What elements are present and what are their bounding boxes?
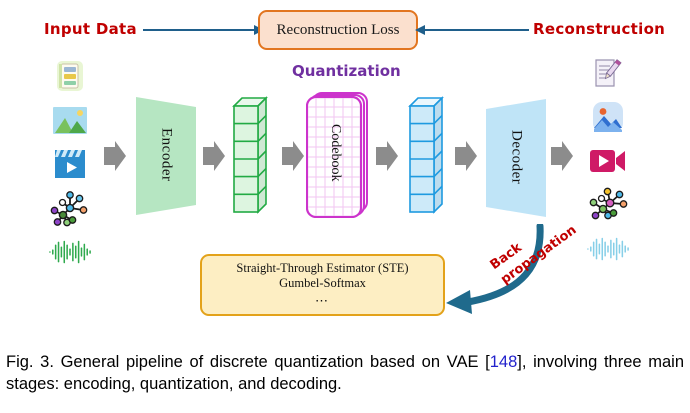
graph-icon — [48, 190, 92, 226]
decoder-block: Decoder — [484, 93, 548, 221]
encoder-block: Encoder — [134, 91, 198, 219]
reconstruction-loss-box: Reconstruction Loss — [258, 10, 418, 50]
audio-waveform-icon — [586, 231, 630, 267]
figure-canvas: Input Data Reconstruction Loss Reconstru… — [0, 0, 690, 345]
flow-arrow-1 — [104, 141, 126, 171]
ste-line-1: Straight-Through Estimator (STE) — [236, 261, 408, 277]
audio-waveform-icon — [48, 234, 92, 270]
flow-arrow-3 — [282, 141, 304, 171]
video-camera-icon — [586, 143, 630, 179]
input-modality-icons — [40, 58, 100, 278]
flow-arrow-4 — [376, 141, 398, 171]
video-icon — [48, 146, 92, 182]
flow-arrow-5 — [455, 141, 477, 171]
ste-box: Straight-Through Estimator (STE) Gumbel-… — [200, 254, 445, 316]
encoder-label: Encoder — [134, 91, 198, 219]
ste-line-2: Gumbel-Softmax — [279, 276, 366, 292]
decoder-label: Decoder — [484, 93, 548, 221]
figure-caption: Fig. 3. General pipeline of discrete qua… — [6, 352, 684, 396]
reconstruction-loss-label: Reconstruction Loss — [277, 22, 400, 39]
document-edit-icon — [586, 55, 630, 91]
image-icon — [586, 99, 630, 135]
codebook-block: Codebook — [306, 92, 368, 218]
arrow-input-to-loss — [143, 29, 255, 31]
caption-reference: 148 — [490, 353, 518, 371]
encoder-output-latent-stack — [232, 92, 274, 223]
flow-arrow-6 — [551, 141, 573, 171]
ste-ellipsis: ⋯ — [315, 293, 330, 309]
codebook-label: Codebook — [306, 92, 364, 214]
image-icon — [48, 102, 92, 138]
input-data-label: Input Data — [44, 20, 137, 38]
reconstruction-label: Reconstruction — [533, 20, 665, 38]
quantization-title: Quantization — [292, 62, 401, 80]
output-modality-icons — [578, 55, 638, 275]
caption-prefix: Fig. 3. General pipeline of discrete qua… — [6, 353, 490, 371]
document-icon — [48, 58, 92, 94]
flow-arrow-2 — [203, 141, 225, 171]
arrow-reconstruction-to-loss — [424, 29, 529, 31]
quantized-latent-stack — [408, 92, 450, 223]
graph-icon — [586, 187, 630, 223]
